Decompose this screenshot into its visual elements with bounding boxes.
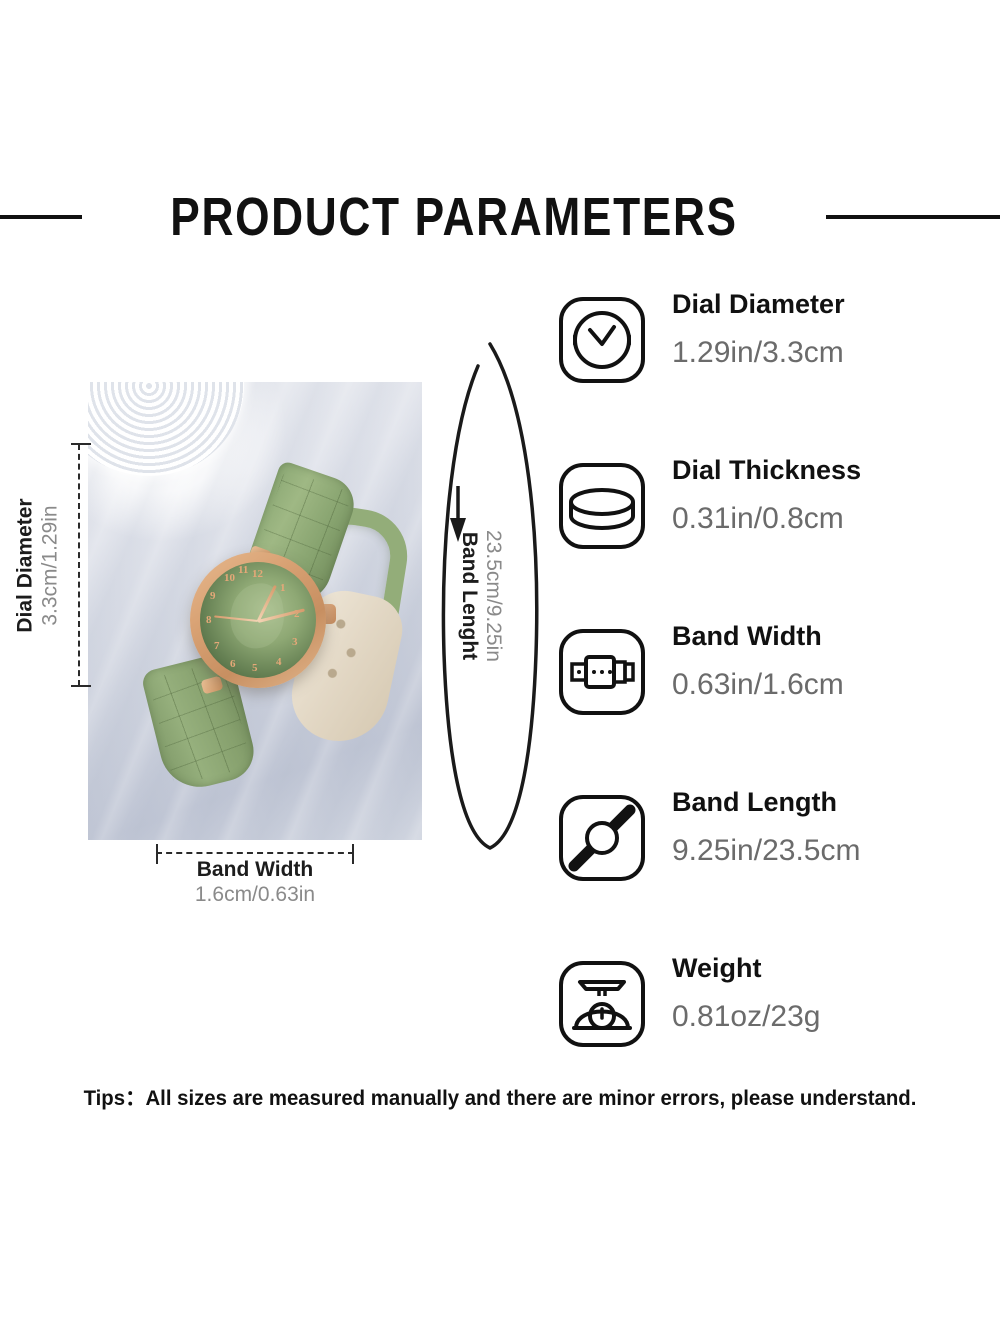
dial-numeral: 10 — [224, 572, 235, 584]
spec-row-band-width: Band Width 0.63in/1.6cm — [556, 620, 986, 786]
dial-numeral: 1 — [280, 582, 286, 594]
dial-numeral: 6 — [230, 658, 236, 670]
page-title: PRODUCT PARAMETERS — [170, 186, 737, 248]
spec-label: Dial Thickness — [672, 456, 861, 486]
kitchen-scale-icon — [556, 958, 648, 1050]
spec-row-band-length: Band Length 9.25in/23.5cm — [556, 786, 986, 952]
spec-value: 0.31in/0.8cm — [672, 502, 861, 535]
watch-dial: 12 1 2 3 4 5 6 7 8 9 10 11 — [200, 562, 316, 678]
dial-numeral: 12 — [252, 568, 263, 580]
dial-diameter-annotation: Dial Diameter 3.3cm/1.29in — [6, 430, 70, 700]
dial-numeral: 3 — [292, 636, 298, 648]
product-photo: 12 1 2 3 4 5 6 7 8 9 10 11 — [88, 382, 422, 840]
dial-numeral: 11 — [238, 564, 248, 576]
spec-label: Weight — [672, 954, 820, 984]
tips-note: Tips：All sizes are measured manually and… — [15, 1082, 985, 1112]
product-parameters-infographic: PRODUCT PARAMETERS 12 1 2 3 4 5 — [0, 0, 1000, 1318]
watch-buckle-icon — [556, 626, 648, 718]
spec-row-dial-diameter: Dial Diameter 1.29in/3.3cm — [556, 288, 986, 454]
watch-illustration: 12 1 2 3 4 5 6 7 8 9 10 11 — [146, 474, 396, 794]
spec-value: 9.25in/23.5cm — [672, 834, 860, 867]
spec-list: Dial Diameter 1.29in/3.3cm Dial Thicknes… — [556, 288, 986, 1118]
spec-label: Band Width — [672, 622, 844, 652]
band-width-annotation: Band Width 1.6cm/0.63in — [110, 858, 400, 907]
watch-strap-icon — [556, 792, 648, 884]
spec-value: 0.81oz/23g — [672, 1000, 820, 1033]
spec-row-dial-thickness: Dial Thickness 0.31in/0.8cm — [556, 454, 986, 620]
page-title-row: PRODUCT PARAMETERS — [0, 186, 1000, 248]
spec-label: Dial Diameter — [672, 290, 845, 320]
dial-numeral: 4 — [276, 656, 282, 668]
title-rule-right-icon — [826, 215, 1000, 219]
band-width-annotation-label: Band Width — [110, 858, 400, 882]
dial-numeral: 8 — [206, 614, 212, 626]
band-length-annotation: Band Lenght 23.5cm/9.25in — [432, 336, 548, 856]
spec-label: Band Length — [672, 788, 860, 818]
spec-value: 1.29in/3.3cm — [672, 336, 845, 369]
band-width-measure-line — [156, 852, 354, 854]
dial-diameter-annotation-label: Dial Diameter — [14, 498, 38, 632]
watch-case: 12 1 2 3 4 5 6 7 8 9 10 11 — [190, 552, 326, 688]
disc-thickness-icon — [556, 460, 648, 552]
spec-value: 0.63in/1.6cm — [672, 668, 844, 701]
watch-dial-icon — [556, 294, 648, 386]
dial-diameter-annotation-value: 3.3cm/1.29in — [39, 505, 63, 625]
dial-numeral: 9 — [210, 590, 216, 602]
dial-diameter-measure-line — [78, 444, 80, 686]
dial-numeral: 5 — [252, 662, 258, 674]
band-length-annotation-value: 23.5cm/9.25in — [482, 530, 506, 662]
dial-numeral: 7 — [214, 640, 220, 652]
band-length-annotation-label: Band Lenght — [458, 532, 482, 660]
band-width-annotation-value: 1.6cm/0.63in — [110, 883, 400, 907]
title-rule-left-icon — [0, 215, 82, 219]
